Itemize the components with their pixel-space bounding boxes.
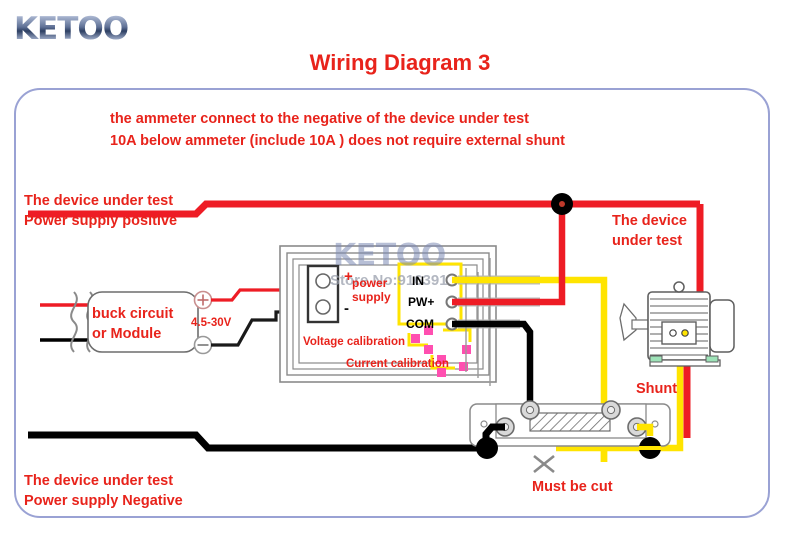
label-terminal-com: COM [406,317,434,331]
note-line-2: 10A below ammeter (include 10A ) does no… [110,130,670,152]
diagram-canvas: KETOO Wiring Diagram 3 the ammeter conne… [0,0,800,538]
sign-plus: + [344,268,353,285]
note-text: the ammeter connect to the negative of t… [110,108,670,153]
label-power-supply: power supply [352,276,391,305]
label-terminal-in: IN [412,274,424,288]
note-line-1: the ammeter connect to the negative of t… [110,108,670,130]
label-power-supply-positive: The device under test Power supply posit… [24,192,177,231]
sign-minus: - [344,300,349,317]
label-device-under-test: The device under test [612,212,687,251]
page-title: Wiring Diagram 3 [0,50,800,76]
ketoo-logo: KETOO [14,14,128,45]
label-current-calibration: Current calibration [346,358,449,370]
label-shunt: Shunt [636,380,677,400]
label-buck-module: buck circuit or Module [92,305,188,344]
label-voltage-calibration: Voltage calibration [303,336,405,348]
label-must-be-cut: Must be cut [532,478,613,498]
label-power-supply-negative: The device under test Power supply Negat… [24,472,183,511]
label-voltage-range: 4.5-30V [191,317,231,329]
label-terminal-pw-plus: PW+ [408,295,434,309]
